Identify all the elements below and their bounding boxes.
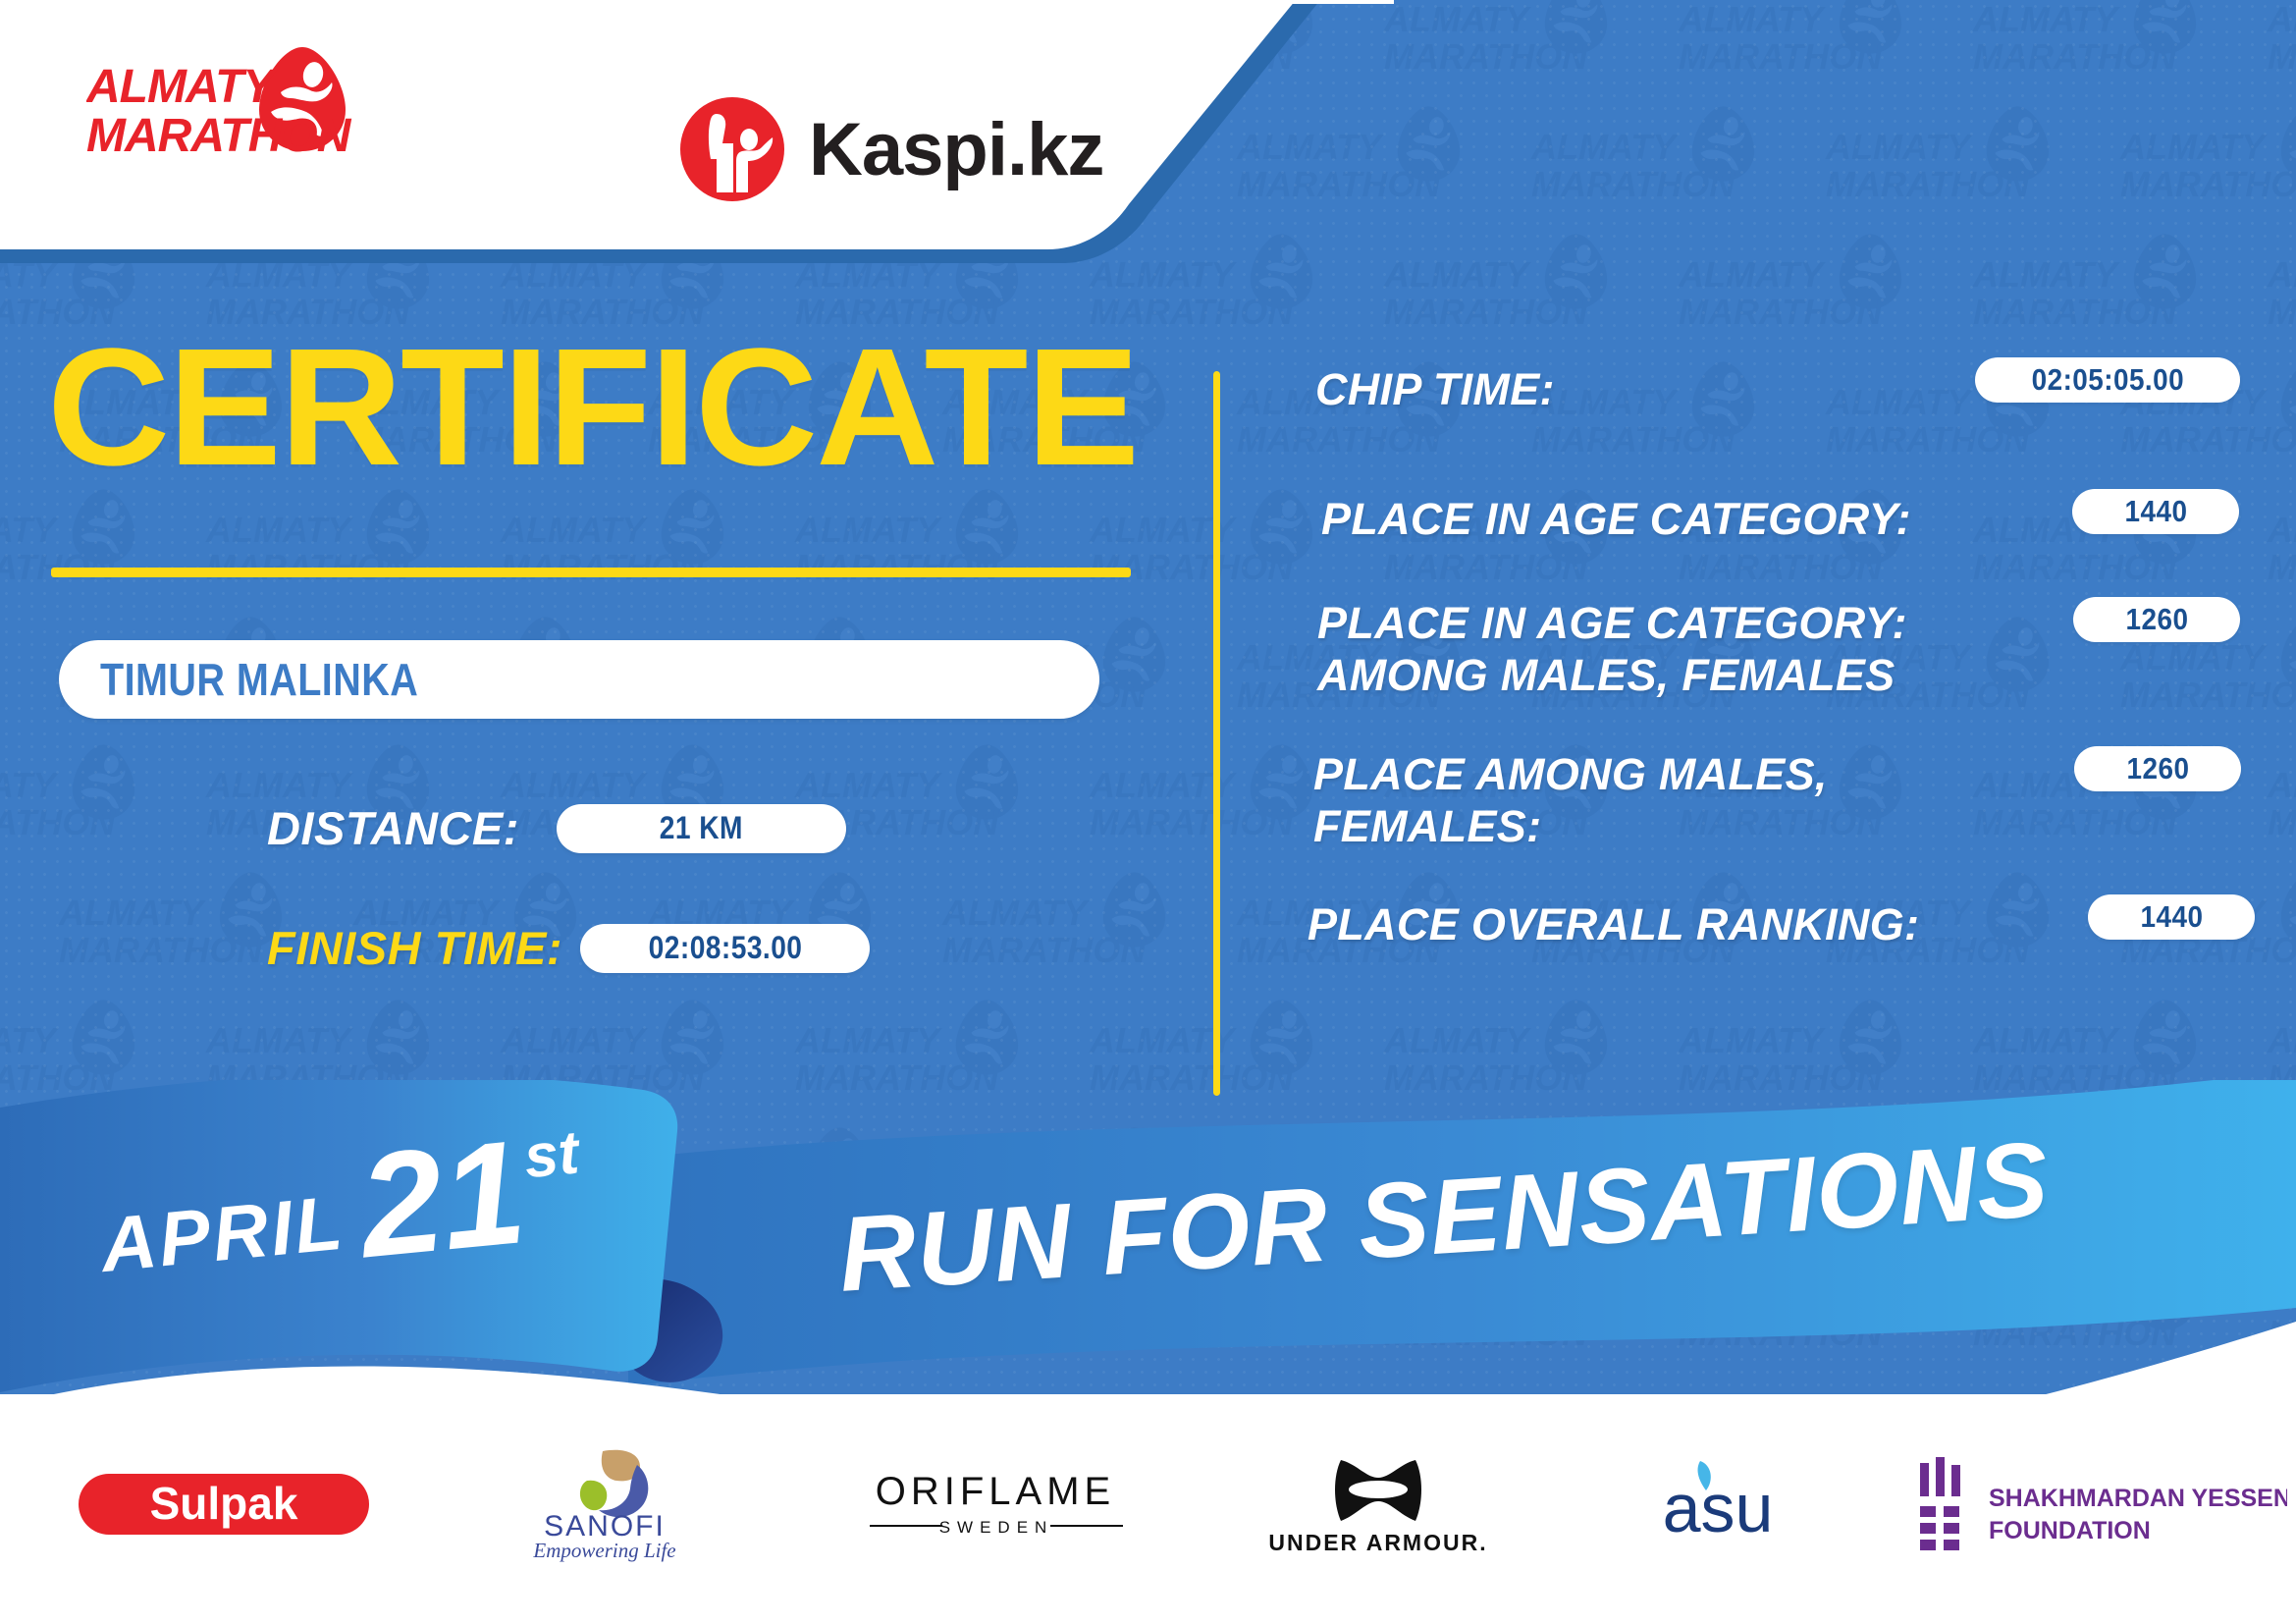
sponsor-logo-asu: asu	[1620, 1440, 1816, 1568]
watermark-tile: ALMATYMARATHON	[1816, 98, 2110, 245]
svg-text:MARATHON: MARATHON	[2120, 675, 2296, 715]
sponsor-logo-shakhmardan-yessenov-foundation: SHAKHMARDAN YESSENOV FOUNDATION	[1914, 1440, 2287, 1568]
sponsor-logo-under-armour: UNDER ARMOUR.	[1251, 1440, 1506, 1568]
finish-time-row: FINISH TIME: 02:08:53.00	[267, 921, 870, 975]
svg-text:MARATHON: MARATHON	[1531, 164, 1735, 204]
svg-text:MARATHON: MARATHON	[1973, 547, 2177, 587]
stat-pill-place-age-category-gender: 1260	[2073, 597, 2240, 642]
stat-pill-place-among-gender: 1260	[2074, 746, 2241, 791]
svg-text:MARATHON: MARATHON	[1679, 292, 1883, 332]
sponsor-label-shy-line2: FOUNDATION	[1989, 1517, 2151, 1544]
stat-label-place-age-category-gender: PLACE IN AGE CATEGORY:AMONG MALES, FEMAL…	[1317, 597, 1907, 701]
svg-text:ALMATY: ALMATY	[1383, 254, 1531, 295]
sponsor-strip: Sulpak SANOFI Empowering Life ORIFLAME S…	[0, 1426, 2296, 1583]
watermark-tile: ALMATYMARATHON	[2258, 736, 2296, 884]
svg-text:ALMATY: ALMATY	[1383, 0, 1531, 39]
svg-text:MARATHON: MARATHON	[2120, 164, 2296, 204]
watermark-tile: ALMATYMARATHON	[2258, 481, 2296, 628]
distance-value: 21 KM	[660, 810, 743, 846]
svg-text:MARATHON: MARATHON	[1237, 419, 1441, 460]
svg-text:ALMATY: ALMATY	[1825, 382, 1973, 422]
distance-value-pill: 21 KM	[557, 804, 846, 853]
almaty-marathon-logo: ALMATY MARATHON	[86, 41, 410, 169]
svg-text:MARATHON: MARATHON	[1826, 419, 2030, 460]
stat-row-chip-time: CHIP TIME: 02:05:05.00	[1315, 363, 1555, 415]
sponsor-label-shy-line1: SHAKHMARDAN YESSENOV	[1989, 1485, 2287, 1512]
svg-text:ALMATY: ALMATY	[1972, 1020, 2120, 1060]
svg-text:MARATHON: MARATHON	[1679, 36, 1883, 77]
finish-time-value-pill: 02:08:53.00	[580, 924, 870, 973]
sponsor-label-oriflame: ORIFLAME	[876, 1470, 1115, 1513]
svg-text:MARATHON: MARATHON	[1973, 292, 2177, 332]
kaspi-wordmark: Kaspi.kz	[809, 107, 1103, 192]
svg-text:MARATHON: MARATHON	[2268, 547, 2296, 587]
svg-text:ALMATY: ALMATY	[1972, 0, 2120, 39]
distance-label: DISTANCE:	[267, 801, 519, 855]
vertical-divider	[1213, 371, 1220, 1096]
event-day: 21	[354, 1126, 530, 1271]
sponsor-label-sulpak: Sulpak	[150, 1478, 298, 1529]
svg-text:ALMATY: ALMATY	[794, 1020, 942, 1060]
page-title: CERTIFICATE	[47, 324, 1138, 491]
svg-text:ALMATY: ALMATY	[2267, 0, 2296, 39]
sponsor-label-asu: asu	[1663, 1470, 1774, 1546]
participant-name-field: TIMUR MALINKA	[59, 640, 1099, 719]
sponsor-logo-oriflame: ORIFLAME SWEDEN	[848, 1440, 1143, 1568]
svg-text:ALMATY: ALMATY	[2119, 637, 2268, 677]
stat-value-place-age-category: 1440	[2124, 494, 2187, 529]
svg-text:MARATHON: MARATHON	[1973, 802, 2177, 842]
svg-text:ALMATY: ALMATY	[1825, 127, 1973, 167]
sponsor-label-under-armour: UNDER ARMOUR.	[1268, 1530, 1487, 1555]
certificate-page: ALMATYMARATHONALMATYMARATHONALMATYMARATH…	[0, 0, 2296, 1624]
title-underline-rule	[51, 568, 1131, 577]
stat-value-chip-time: 02:05:05.00	[2031, 362, 2183, 398]
watermark-tile: ALMATYMARATHON	[2258, 226, 2296, 373]
stat-value-place-among-gender: 1260	[2126, 751, 2189, 786]
svg-text:ALMATY: ALMATY	[2267, 1020, 2296, 1060]
watermark-tile: ALMATYMARATHON	[1374, 226, 1669, 373]
svg-text:ALMATY: ALMATY	[1972, 254, 2120, 295]
sponsor-logo-sanofi: SANOFI Empowering Life	[477, 1440, 732, 1568]
stat-value-place-age-category-gender: 1260	[2125, 602, 2188, 637]
sponsor-tagline-oriflame: SWEDEN	[939, 1518, 1054, 1537]
svg-text:MARATHON: MARATHON	[2268, 36, 2296, 77]
finish-time-value: 02:08:53.00	[648, 930, 802, 966]
svg-text:ALMATY: ALMATY	[205, 1020, 353, 1060]
watermark-tile: ALMATYMARATHON	[1963, 226, 2258, 373]
stat-label-chip-time: CHIP TIME:	[1315, 363, 1555, 415]
watermark-tile: ALMATYMARATHON	[1522, 353, 1816, 501]
left-panel: CERTIFICATE TIMUR MALINKA DISTANCE: 21 K…	[0, 324, 1207, 1011]
svg-text:MARATHON: MARATHON	[2268, 292, 2296, 332]
event-day-suffix: st	[521, 1117, 582, 1192]
watermark-tile: ALMATYMARATHON	[1669, 226, 1963, 373]
svg-text:ALMATY: ALMATY	[500, 1020, 648, 1060]
svg-text:ALMATY: ALMATY	[1678, 254, 1826, 295]
stat-row-place-age-category-gender: PLACE IN AGE CATEGORY:AMONG MALES, FEMAL…	[1317, 597, 1907, 701]
svg-text:ALMATY: ALMATY	[2267, 765, 2296, 805]
kaspi-logo: Kaspi.kz	[677, 90, 1099, 208]
stat-value-place-overall: 1440	[2140, 899, 2203, 935]
stat-label-place-among-gender: PLACE AMONG MALES,FEMALES:	[1313, 748, 1828, 852]
svg-text:MARATHON: MARATHON	[1679, 547, 1883, 587]
svg-text:MARATHON: MARATHON	[1384, 547, 1588, 587]
stat-pill-place-overall: 1440	[2088, 894, 2255, 940]
svg-text:ALMATY: ALMATY	[2267, 510, 2296, 550]
almaty-logo-line2: MARATHON	[86, 110, 352, 162]
participant-name-value: TIMUR MALINKA	[100, 653, 418, 706]
svg-text:MARATHON: MARATHON	[1384, 36, 1588, 77]
svg-text:ALMATY: ALMATY	[2119, 127, 2268, 167]
distance-row: DISTANCE: 21 KM	[267, 801, 846, 855]
svg-text:MARATHON: MARATHON	[1826, 164, 2030, 204]
kaspi-mark-icon	[677, 94, 787, 204]
svg-text:ALMATY: ALMATY	[2267, 254, 2296, 295]
event-month: APRIL	[97, 1178, 349, 1290]
finish-time-label: FINISH TIME:	[267, 921, 562, 975]
svg-text:ALMATY: ALMATY	[1383, 1020, 1531, 1060]
almaty-logo-line1: ALMATY	[86, 61, 278, 113]
stat-row-place-age-category: PLACE IN AGE CATEGORY: 1440	[1321, 493, 1911, 545]
svg-text:MARATHON: MARATHON	[1531, 419, 1735, 460]
stat-row-place-overall: PLACE OVERALL RANKING: 1440	[1308, 898, 1919, 950]
watermark-tile: ALMATYMARATHON	[2110, 98, 2296, 245]
svg-text:MARATHON: MARATHON	[1384, 292, 1588, 332]
svg-text:ALMATY: ALMATY	[1678, 1020, 1826, 1060]
svg-text:ALMATY: ALMATY	[1530, 127, 1679, 167]
svg-text:MARATHON: MARATHON	[2120, 419, 2296, 460]
stat-label-place-overall: PLACE OVERALL RANKING:	[1308, 898, 1919, 950]
svg-text:MARATHON: MARATHON	[2268, 802, 2296, 842]
stat-pill-place-age-category: 1440	[2072, 489, 2239, 534]
watermark-tile: ALMATYMARATHON	[1522, 98, 1816, 245]
stat-pill-chip-time: 02:05:05.00	[1975, 357, 2240, 403]
svg-text:ALMATY: ALMATY	[1678, 0, 1826, 39]
svg-text:ALMATY: ALMATY	[0, 1020, 59, 1060]
stat-label-place-age-category: PLACE IN AGE CATEGORY:	[1321, 493, 1911, 545]
stat-row-place-among-gender: PLACE AMONG MALES,FEMALES: 1260	[1313, 748, 1828, 852]
sponsor-tagline-sanofi: Empowering Life	[532, 1539, 675, 1562]
svg-text:MARATHON: MARATHON	[1973, 36, 2177, 77]
sponsor-logo-sulpak: Sulpak	[77, 1440, 371, 1568]
